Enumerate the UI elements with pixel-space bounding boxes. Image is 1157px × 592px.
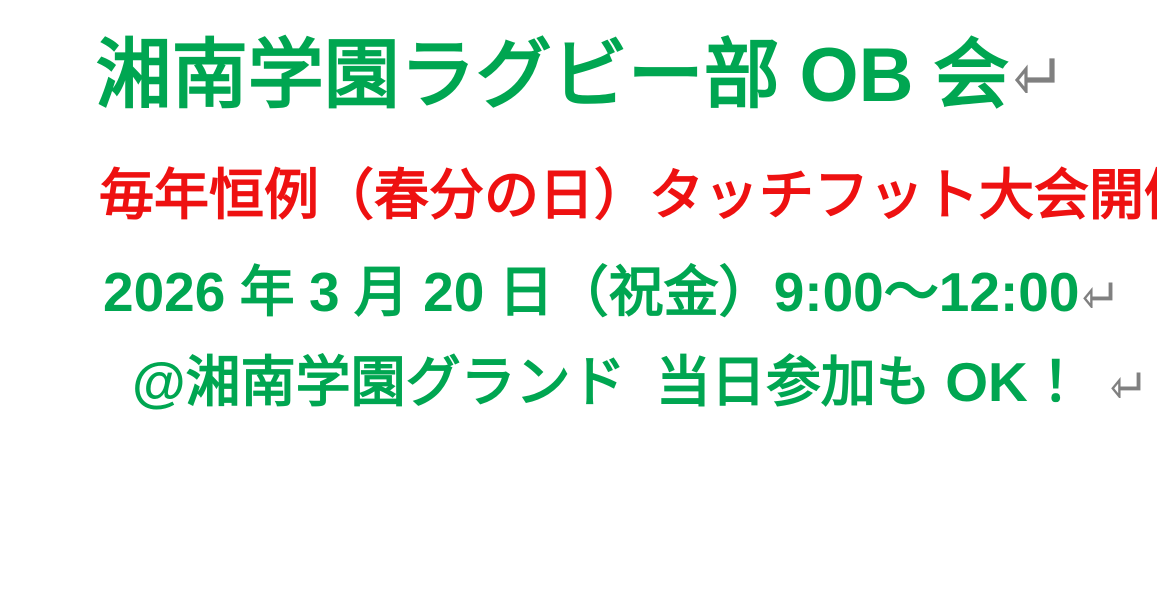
- walkin-ok-label: OK: [945, 351, 1028, 413]
- return-mark-icon: [1083, 280, 1113, 308]
- return-mark-icon: [1015, 55, 1055, 93]
- walkin-exclamation: ！: [1042, 351, 1097, 413]
- event-day-unit: 日: [499, 261, 554, 323]
- walkin-note: 当日参加も: [656, 351, 931, 413]
- event-time-range: 9:00〜12:00: [774, 261, 1080, 323]
- title-line: 湘南学園ラグビー部OB会: [0, 38, 1157, 114]
- event-year: 2026: [103, 261, 225, 323]
- title-ob-label: OB: [800, 33, 914, 118]
- subtitle-annual-text: 毎年恒例（春分の日）: [99, 164, 649, 226]
- subtitle-line: 毎年恒例（春分の日）タッチフット大会開催: [99, 168, 1157, 223]
- event-month-unit: 月: [354, 261, 409, 323]
- subtitle-event-text: タッチフット大会開催: [649, 164, 1157, 226]
- event-year-unit: 年: [240, 261, 295, 323]
- return-mark-icon: [1111, 370, 1141, 398]
- document-page: 湘南学園ラグビー部OB会 毎年恒例（春分の日）タッチフット大会開催 2026年3…: [0, 0, 1157, 592]
- datetime-line: 2026年3月20日（祝金）9:00〜12:00: [103, 265, 1113, 320]
- event-holiday-note: （祝金）: [554, 261, 774, 323]
- event-month: 3: [309, 261, 340, 323]
- title-organization: 湘南学園ラグビー部: [96, 33, 780, 118]
- event-venue: @湘南学園グランド: [132, 351, 626, 413]
- title-kai-label: 会: [933, 33, 1009, 118]
- event-day: 20: [423, 261, 484, 323]
- venue-line: @湘南学園グランド当日参加もOK！: [132, 355, 1141, 410]
